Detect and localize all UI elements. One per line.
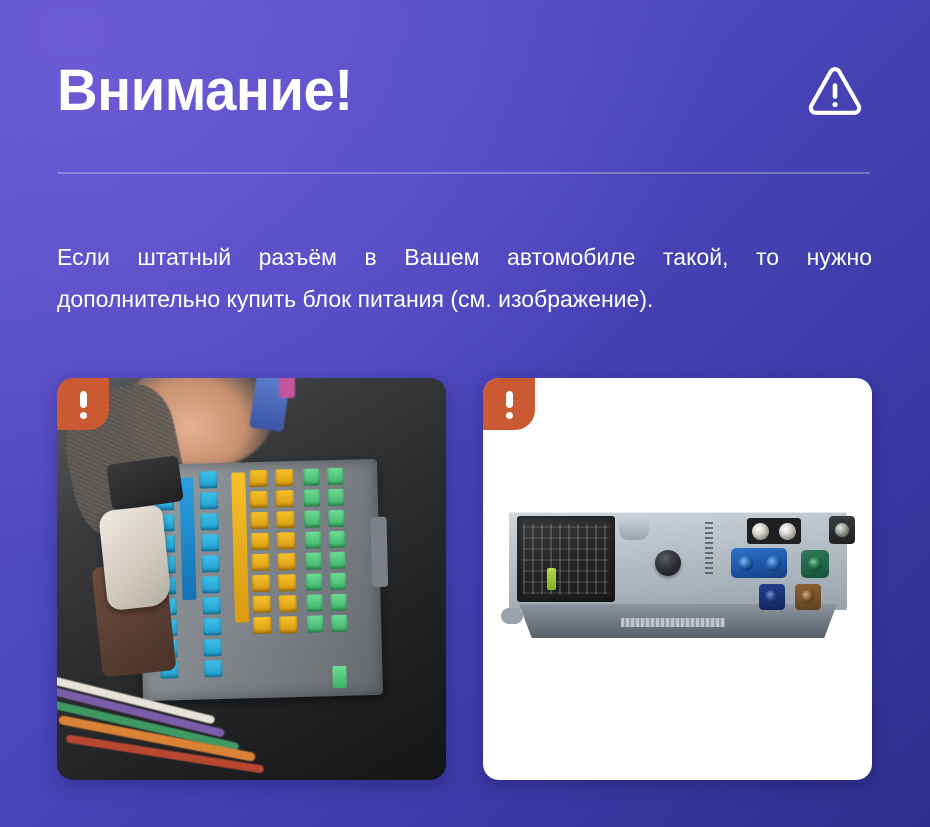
exclamation-badge-icon (483, 378, 535, 430)
badge-exclamation-stem (506, 391, 513, 408)
background-pink-part (279, 378, 295, 398)
warning-triangle-icon (804, 60, 866, 122)
quadlock-green-tab (547, 568, 556, 590)
rca-jack-right (779, 523, 796, 540)
white-retainer-clip (98, 505, 172, 611)
connector-notch (370, 517, 388, 587)
card-vehicle-connector-photo[interactable] (57, 378, 446, 780)
fakra-blue-port-1 (738, 556, 753, 571)
body-line-1: Если штатный разъём в Вашем автомобиле т… (57, 236, 872, 278)
body-copy: Если штатный разъём в Вашем автомобиле т… (57, 236, 872, 320)
round-knob (655, 550, 681, 576)
badge-exclamation-dot (506, 412, 513, 419)
body-line-2: дополнительно купить блок питания (см. и… (57, 278, 872, 320)
header-divider (57, 172, 870, 174)
metal-clip (619, 514, 649, 540)
pin-bar-green-low (332, 666, 347, 688)
page-title: Внимание! (57, 62, 353, 120)
pin-column-green-1 (303, 468, 323, 632)
module-side-marking (705, 522, 713, 574)
quadlock-connector (517, 516, 615, 602)
card-power-supply-photo[interactable] (483, 378, 872, 780)
fakra-connector-navy (759, 584, 785, 610)
module-skirt-label (621, 618, 725, 627)
image-card-row (57, 378, 872, 780)
rca-jack-left (752, 523, 769, 540)
pin-column-green-2 (327, 468, 347, 632)
mounting-tab (501, 608, 523, 624)
screw-terminal (829, 516, 855, 544)
exclamation-badge-icon (57, 378, 109, 430)
badge-exclamation-dot (80, 412, 87, 419)
fakra-blue-port-2 (766, 556, 781, 571)
rca-connector-pair (747, 518, 801, 544)
attention-banner: Внимание! Если штатный разъём в Вашем ав… (0, 0, 930, 827)
badge-exclamation-stem (80, 391, 87, 408)
fakra-connector-brown (795, 584, 821, 610)
pin-column-yellow-2 (275, 469, 297, 633)
pin-column-cyan-2 (199, 471, 222, 677)
fakra-connector-blue-pair (731, 548, 787, 578)
vehicle-connector-photo (57, 378, 446, 780)
header: Внимание! (57, 48, 870, 134)
power-supply-module (509, 512, 847, 642)
quadlock-pin-grid (523, 524, 609, 594)
pin-column-yellow-1 (249, 470, 271, 634)
pin-bar-yellow-1 (231, 472, 249, 622)
fakra-connector-green (801, 550, 829, 578)
power-supply-photo (483, 378, 872, 780)
